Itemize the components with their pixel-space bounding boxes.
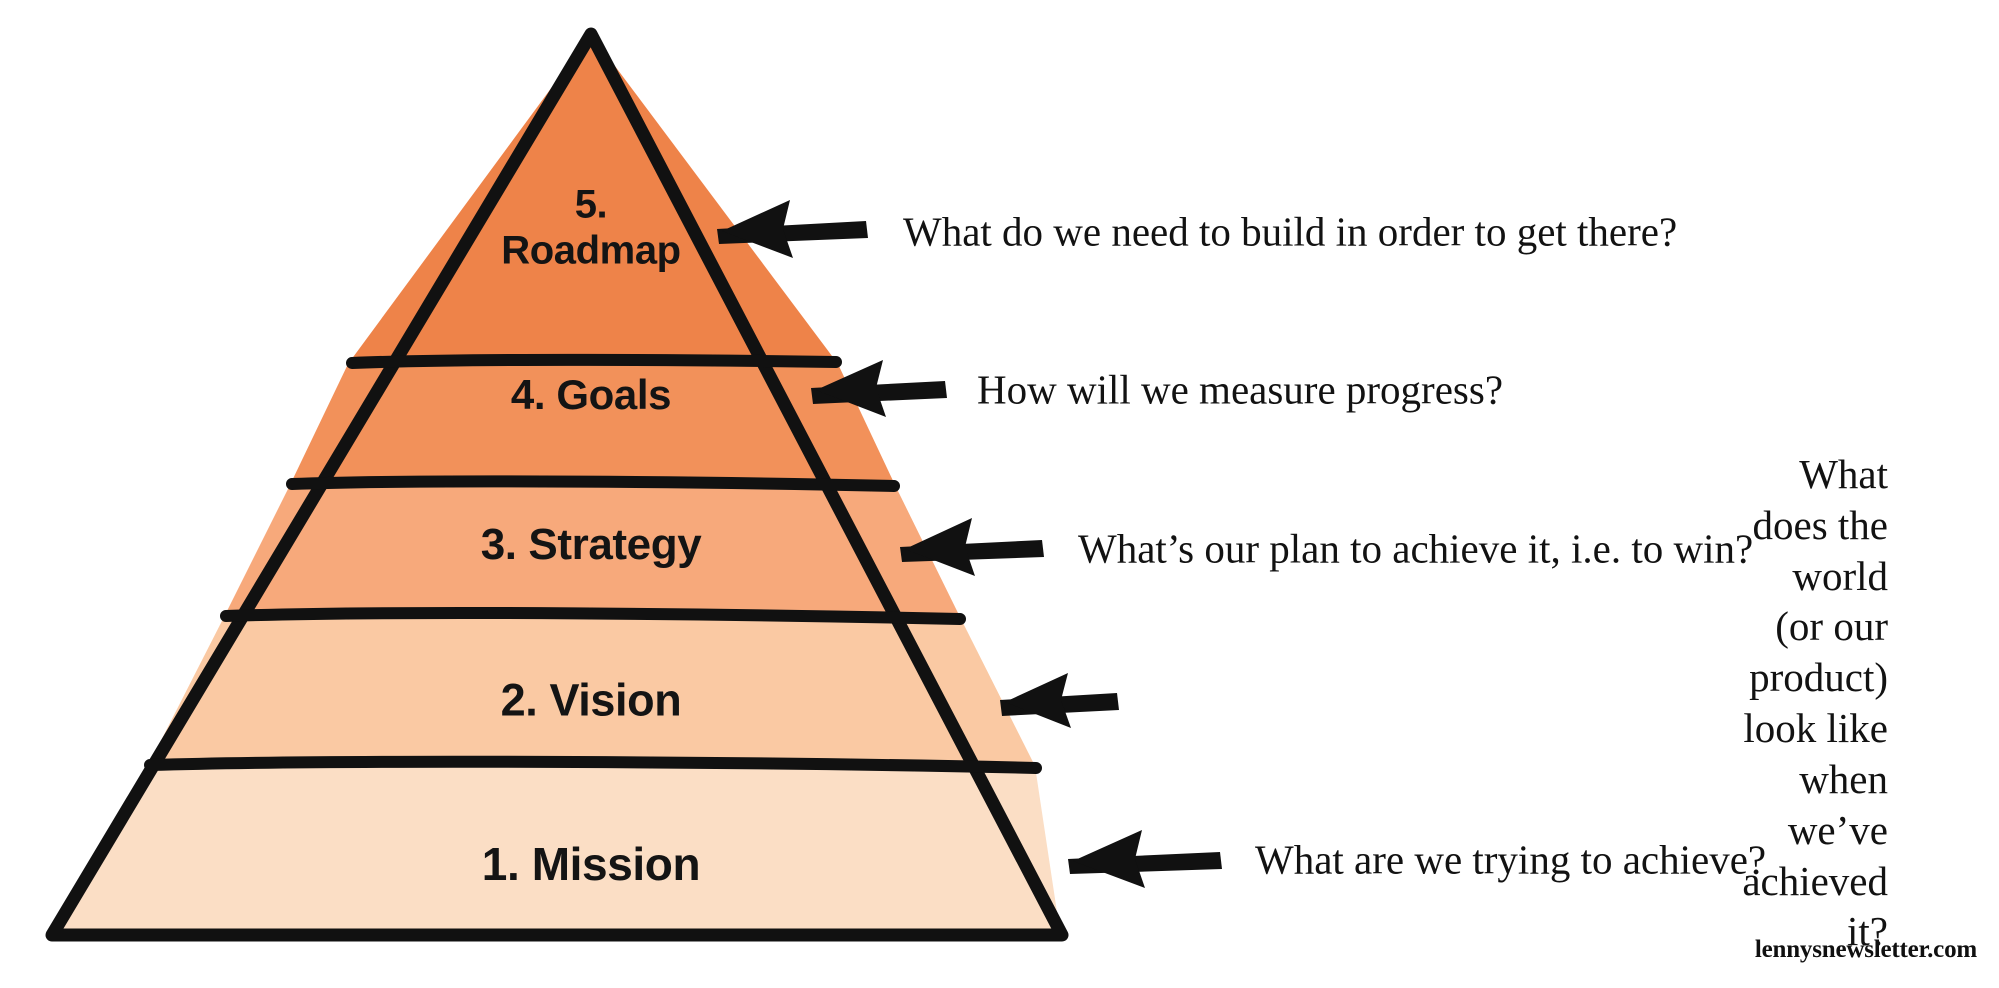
footer-credit: lennysnewsletter.com bbox=[1755, 936, 1977, 964]
pyramid-tier-label-mission: 1. Mission bbox=[482, 838, 700, 890]
pyramid-tier-label-vision: 2. Vision bbox=[501, 674, 682, 725]
pyramid-tier-label-strategy: 3. Strategy bbox=[481, 520, 702, 570]
divider-strategy-vision bbox=[226, 613, 960, 619]
divider-roadmap-goals bbox=[352, 360, 836, 363]
arrow-to-mission bbox=[1068, 830, 1222, 888]
divider-vision-mission bbox=[150, 762, 1036, 768]
arrow-to-vision bbox=[1000, 673, 1119, 728]
annotation-roadmap: What do we need to build in order to get… bbox=[903, 207, 1677, 258]
diagram-canvas: 5. Roadmap 4. Goals 3. Strategy 2. Visio… bbox=[0, 0, 1999, 988]
annotation-strategy: What’s our plan to achieve it, i.e. to w… bbox=[1078, 524, 1753, 575]
annotation-mission: What are we trying to achieve? bbox=[1255, 835, 1766, 886]
annotation-goals: How will we measure progress? bbox=[977, 365, 1503, 416]
pyramid-tier-label-goals: 4. Goals bbox=[511, 371, 671, 419]
pyramid-tier-label-roadmap: 5. Roadmap bbox=[501, 182, 680, 273]
divider-goals-strategy bbox=[292, 481, 894, 486]
